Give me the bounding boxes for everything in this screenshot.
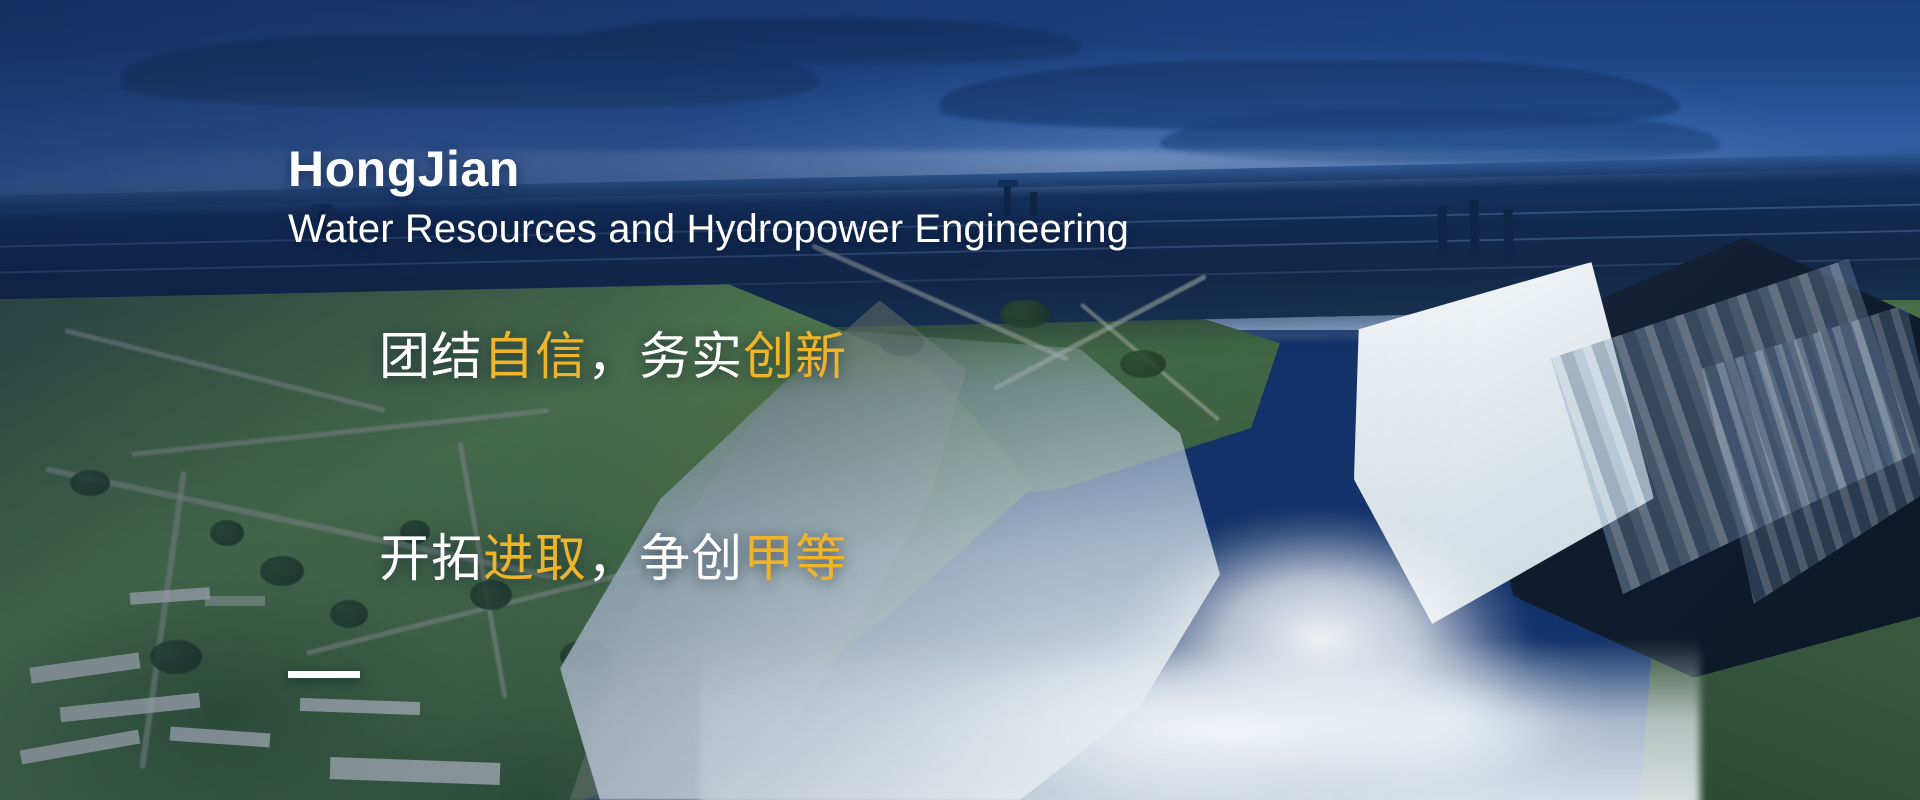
tree — [1790, 500, 1860, 540]
slogan-segment: ， — [587, 530, 639, 587]
transmission-tower — [1470, 200, 1480, 256]
slogan-segment: 创新 — [743, 328, 847, 385]
slogan-underline-bar — [288, 671, 360, 678]
slogan-segment: 自信 — [483, 328, 587, 385]
slogan-segment: 争创 — [639, 530, 743, 587]
slogan-segment: 甲等 — [743, 530, 847, 587]
building — [29, 652, 140, 683]
slogan-line-1: 团结自信，务实创新 — [288, 259, 1238, 455]
building — [300, 698, 420, 715]
spillway-chute — [1540, 249, 1920, 629]
forested-island — [560, 18, 1080, 64]
transmission-tower — [1504, 210, 1514, 258]
brand-tagline: Water Resources and Hydropower Engineeri… — [288, 205, 1238, 253]
transmission-tower — [1438, 206, 1448, 256]
slogan-segment: 进取 — [483, 530, 587, 587]
road — [139, 471, 187, 769]
tree — [210, 520, 244, 546]
building — [60, 693, 201, 723]
tree — [1730, 600, 1794, 638]
spillway-chute — [1700, 300, 1920, 631]
building — [130, 587, 211, 605]
hero-copy-block: HongJian Water Resources and Hydropower … — [288, 140, 1238, 678]
tree — [150, 640, 202, 674]
building — [20, 730, 141, 765]
tree — [70, 470, 110, 496]
brand-name: HongJian — [288, 140, 1238, 199]
slogan-segment: ， — [587, 328, 639, 385]
building — [330, 757, 501, 785]
forested-island — [1160, 108, 1720, 162]
slogan-line-2: 开拓进取，争创甲等 — [288, 461, 1238, 657]
slogan-segment: 务实 — [639, 328, 743, 385]
spillway-water-sheet — [1340, 253, 1661, 652]
slogan-segment: 开拓 — [379, 530, 483, 587]
tree — [1700, 420, 1760, 456]
building — [170, 727, 271, 748]
building — [205, 596, 265, 606]
forested-island — [940, 60, 1680, 130]
forested-island — [120, 34, 820, 108]
slogan-segment: 团结 — [379, 328, 483, 385]
hero-banner: HongJian Water Resources and Hydropower … — [0, 0, 1920, 800]
right-bank-vegetation — [1640, 300, 1920, 800]
spillway-structure — [1450, 202, 1920, 711]
